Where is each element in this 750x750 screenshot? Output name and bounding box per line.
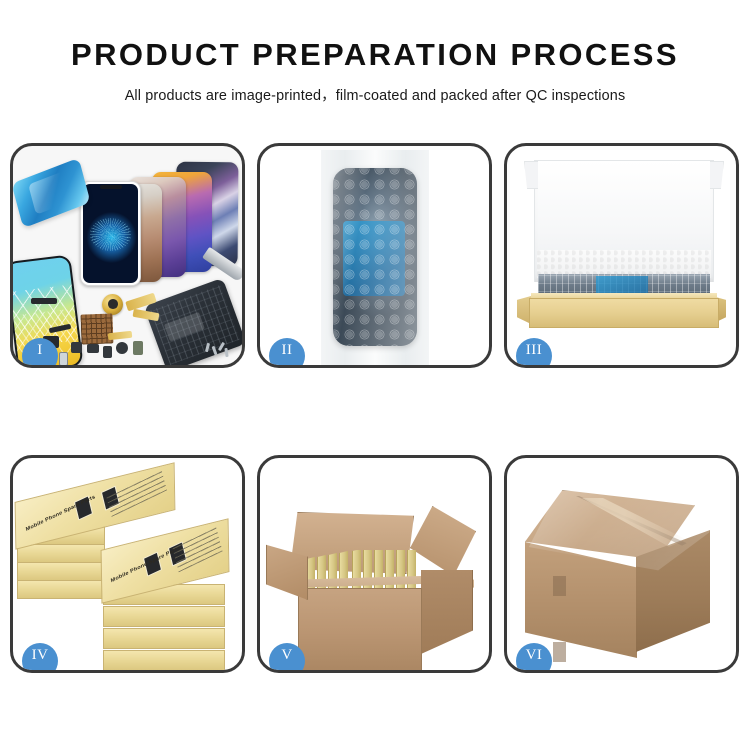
stacked-box-front-2 — [103, 628, 225, 649]
step-panel-4: Mobile Phone Spare Parts Mobile Phone Sp… — [10, 455, 245, 673]
step-badge-3: III — [516, 338, 552, 368]
page-subtitle: All products are image-printed，film-coat… — [0, 84, 750, 105]
bubble-wrapped-product — [333, 168, 417, 346]
screws-group — [204, 342, 230, 358]
carton-handhole-2 — [553, 642, 566, 662]
step-2-image — [260, 146, 489, 365]
adhesive-film — [13, 158, 91, 228]
screw-4 — [224, 348, 228, 357]
carton-handhole-1 — [553, 576, 566, 596]
phone-notch — [100, 185, 122, 189]
product-preparation-infographic: PRODUCT PREPARATION PROCESS All products… — [0, 0, 750, 750]
page-title: PRODUCT PREPARATION PROCESS — [0, 38, 750, 72]
box-label-text-front: Mobile Phone Spare Parts — [110, 545, 181, 584]
header: PRODUCT PREPARATION PROCESS All products… — [0, 0, 750, 105]
step-1-image — [13, 146, 242, 365]
speaker-coil-part — [102, 294, 123, 315]
step-panel-2: II — [257, 143, 492, 368]
stacked-box-rear-2 — [17, 562, 105, 581]
step-4-image: Mobile Phone Spare Parts Mobile Phone Sp… — [13, 458, 242, 670]
screw-1 — [205, 343, 210, 352]
screw-2 — [212, 346, 218, 355]
inner-box-front — [529, 298, 719, 328]
small-part-1 — [71, 342, 82, 353]
stacked-box-front-3 — [103, 606, 225, 627]
small-part-3 — [103, 346, 112, 358]
sealed-carton-front — [525, 542, 637, 658]
small-part-5 — [59, 352, 68, 365]
steps-grid: I II — [10, 143, 740, 673]
small-part-6 — [133, 341, 143, 355]
stacked-box-front-1 — [103, 650, 225, 670]
stacked-box-rear-3 — [17, 544, 105, 563]
step-badge-4: IV — [22, 643, 58, 673]
step-panel-6: VI — [504, 455, 739, 673]
carton-side-right — [421, 570, 473, 654]
plastic-sheen — [333, 168, 417, 346]
phone-display-1 — [80, 181, 141, 286]
box-spec-text-lines — [106, 469, 167, 517]
step-badge-6: VI — [516, 643, 552, 673]
small-part-4 — [116, 342, 128, 354]
step-badge-2: II — [269, 338, 305, 368]
spare-part-bar-1 — [31, 298, 57, 304]
flex-cable-3 — [108, 331, 133, 340]
small-part-2 — [87, 344, 99, 353]
phone-screen-wallpaper — [83, 184, 138, 283]
stacked-box-rear-1 — [17, 580, 105, 599]
step-panel-5: V — [257, 455, 492, 673]
step-panel-3: III — [504, 143, 739, 368]
step-badge-5: V — [269, 643, 305, 673]
step-6-image — [507, 458, 736, 670]
carton-front — [298, 588, 422, 670]
step-badge-1: I — [22, 338, 58, 368]
step-3-image — [507, 146, 736, 365]
step-5-image — [260, 458, 489, 670]
step-panel-1: I — [10, 143, 245, 368]
